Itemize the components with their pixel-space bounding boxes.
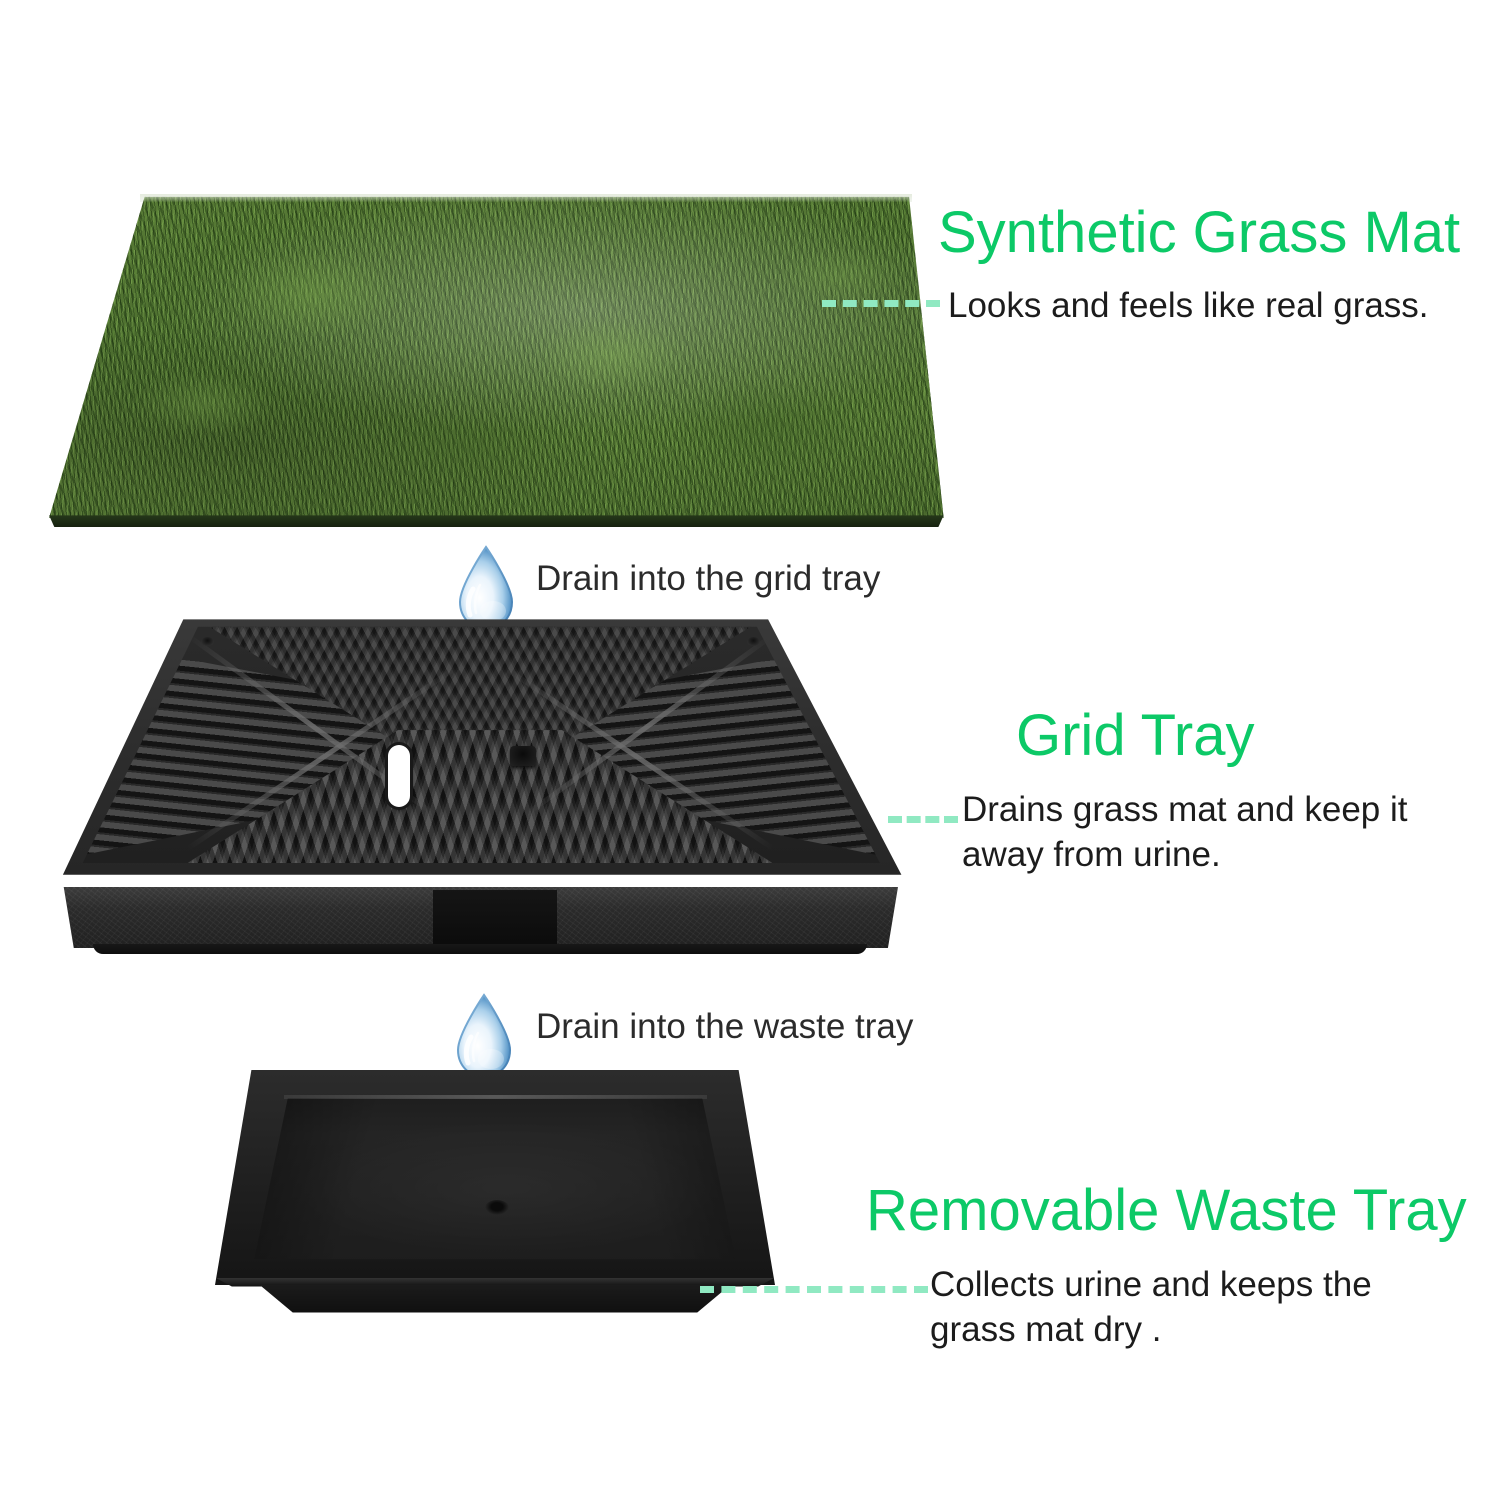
grid-tray-description: Drains grass mat and keep it away from u… — [962, 788, 1462, 878]
waste-tray-description: Collects urine and keeps the grass mat d… — [930, 1263, 1420, 1353]
grass-mat-illustration — [40, 190, 950, 535]
flow-label-drain-into-waste-tray: Drain into the waste tray — [536, 1007, 913, 1047]
waste-tray-base — [260, 1285, 730, 1313]
grass-mat-description: Looks and feels like real grass. — [948, 284, 1488, 329]
leader-line-grid-tray — [888, 816, 958, 823]
grid-tray-title: Grid Tray — [1016, 706, 1255, 767]
screw-boss-top-left — [201, 637, 214, 646]
grass-mat-title: Synthetic Grass Mat — [938, 203, 1460, 264]
waste-tray-illustration — [215, 1065, 775, 1315]
waste-tray-title: Removable Waste Tray — [866, 1181, 1467, 1242]
grass-top-edge-highlight — [140, 194, 912, 202]
waste-tray-top-rim-highlight — [284, 1095, 706, 1099]
waste-tray-basin-shading — [215, 1070, 775, 1285]
grid-tray-illustration — [50, 615, 910, 975]
screw-boss-top-right — [747, 637, 760, 646]
leader-line-grass-mat — [822, 300, 940, 307]
grass-front-edge — [49, 515, 944, 527]
grass-texture-mottle — [40, 190, 950, 535]
grid-tray-center-fixture — [510, 746, 536, 766]
waste-tray-drain-dot — [485, 1200, 509, 1215]
grid-tray-rim-notch — [433, 890, 558, 944]
leader-line-waste-tray — [700, 1286, 928, 1293]
grid-tray-foot — [93, 944, 867, 954]
product-infographic: Synthetic Grass Mat Looks and feels like… — [0, 0, 1500, 1500]
grid-tray-drain-slot — [388, 745, 410, 807]
flow-label-drain-into-grid-tray: Drain into the grid tray — [536, 559, 880, 599]
